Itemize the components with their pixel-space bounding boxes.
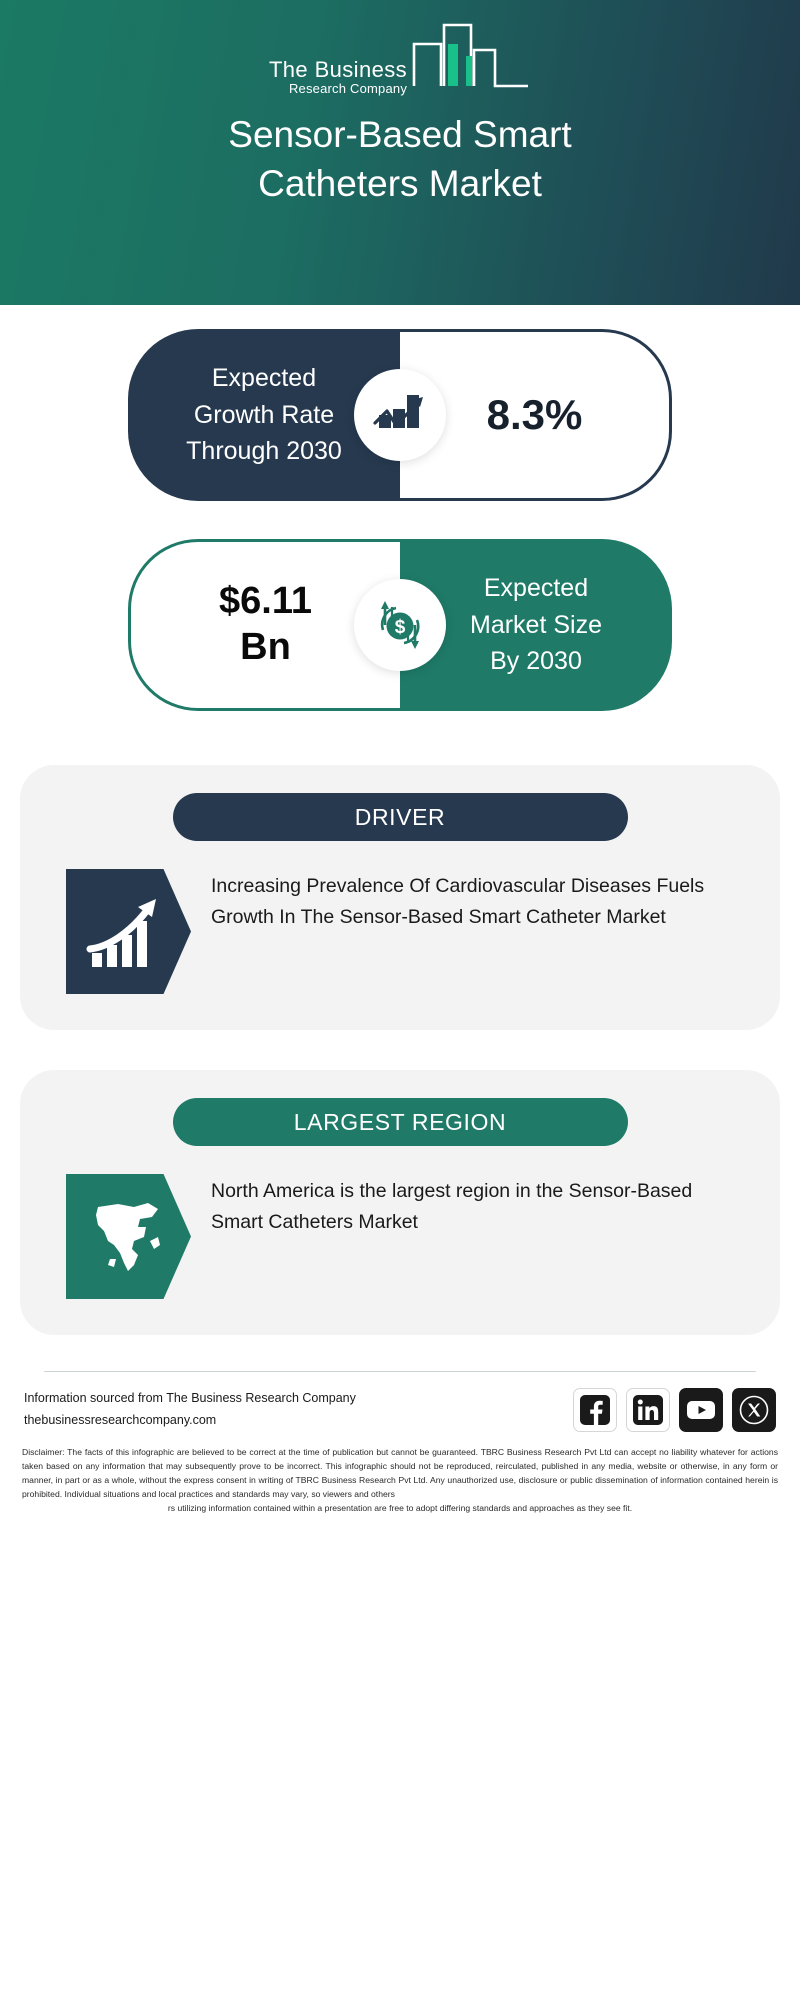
- facebook-icon[interactable]: [573, 1388, 617, 1432]
- largest-region-description: North America is the largest region in t…: [191, 1174, 734, 1238]
- logo-secondary-text: Research Company: [269, 81, 407, 97]
- stat-value-market-size-unit: Bn: [219, 625, 312, 671]
- page-title-line-2: Catheters Market: [40, 159, 760, 208]
- stat-label-line-1: Expected: [470, 570, 602, 607]
- dollar-circle-arrows-icon: $: [354, 579, 446, 671]
- stat-card-market-size: $6.11 Bn Expected Market Size By 2030 $: [0, 501, 800, 711]
- stat-label-line-3: By 2030: [470, 643, 602, 680]
- stat-label-line-2: Market Size: [470, 607, 602, 644]
- svg-text:$: $: [395, 617, 406, 638]
- page-title-line-1: Sensor-Based Smart: [40, 110, 760, 159]
- header-banner: The Business Research Company Sensor-Bas…: [0, 0, 800, 305]
- footer-source: Information sourced from The Business Re…: [24, 1388, 573, 1432]
- driver-description: Increasing Prevalence Of Cardiovascular …: [191, 869, 734, 933]
- stat-label-line-1: Expected: [186, 360, 342, 397]
- logo-primary-text: The Business: [269, 58, 407, 81]
- driver-heading-label: DRIVER: [355, 804, 446, 831]
- bar-chart-growth-arrow-icon: [66, 869, 191, 994]
- stat-label-line-2: Growth Rate: [186, 397, 342, 434]
- driver-panel: DRIVER Increasing Prevalence Of Cardiova…: [20, 765, 780, 1030]
- youtube-icon[interactable]: [679, 1388, 723, 1432]
- x-twitter-icon[interactable]: [732, 1388, 776, 1432]
- disclaimer-main: Disclaimer: The facts of this infographi…: [22, 1447, 778, 1499]
- company-logo: The Business Research Company: [0, 22, 800, 99]
- linkedin-icon[interactable]: [626, 1388, 670, 1432]
- logo-bar-chart-icon: [411, 22, 531, 99]
- social-links: [573, 1388, 776, 1432]
- driver-heading-pill: DRIVER: [173, 793, 628, 841]
- growth-chart-arrow-icon: [354, 369, 446, 461]
- largest-region-heading-pill: LARGEST REGION: [173, 1098, 628, 1146]
- page-title: Sensor-Based Smart Catheters Market: [40, 110, 760, 208]
- north-america-map-icon: [66, 1174, 191, 1299]
- disclaimer-text: Disclaimer: The facts of this infographi…: [0, 1432, 800, 1516]
- stat-value-market-size: $6.11: [219, 579, 312, 625]
- footer-source-website[interactable]: thebusinessresearchcompany.com: [24, 1410, 573, 1432]
- stat-label-line-3: Through 2030: [186, 433, 342, 470]
- footer-source-line-1: Information sourced from The Business Re…: [24, 1388, 573, 1410]
- stat-value-growth-rate: 8.3%: [487, 390, 583, 440]
- disclaimer-last-line: rs utilizing information contained withi…: [22, 1502, 778, 1516]
- footer: Information sourced from The Business Re…: [0, 1371, 800, 1516]
- largest-region-panel: LARGEST REGION North America is the larg…: [20, 1070, 780, 1335]
- stat-card-growth-rate: Expected Growth Rate Through 2030 8.3%: [0, 305, 800, 501]
- largest-region-heading-label: LARGEST REGION: [294, 1109, 506, 1136]
